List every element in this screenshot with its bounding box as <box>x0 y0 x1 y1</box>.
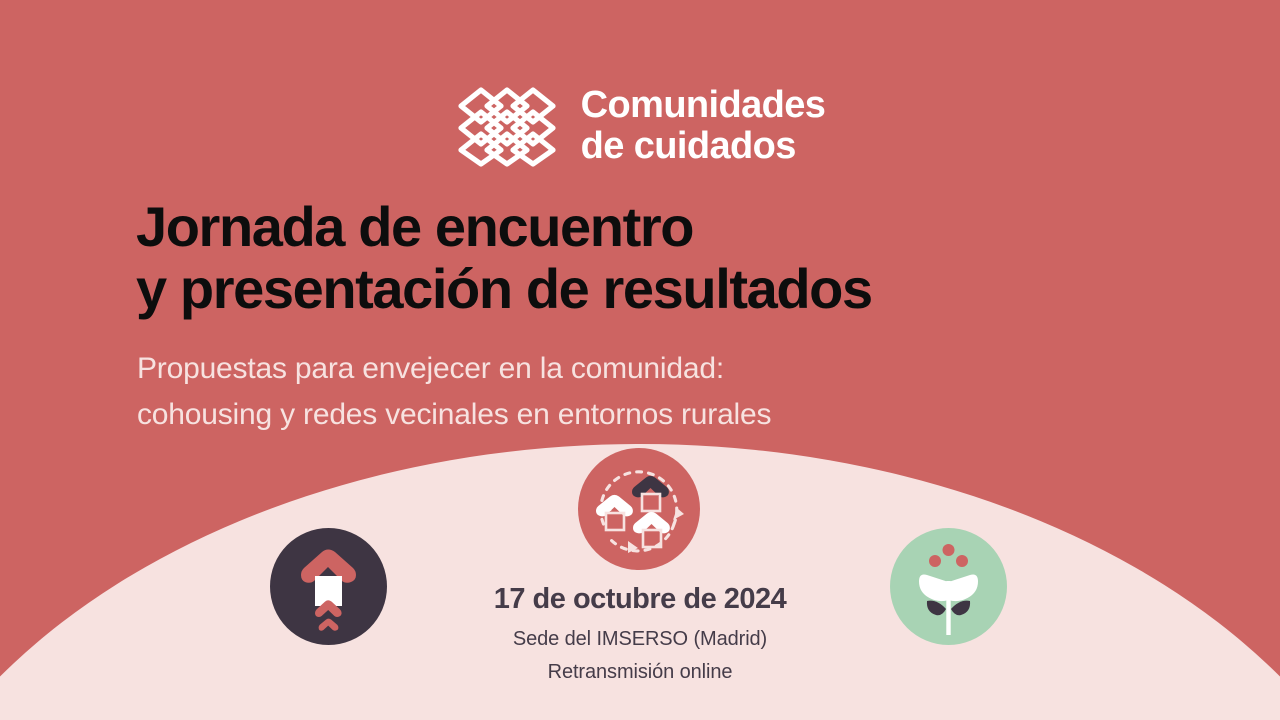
event-venue: Sede del IMSERSO (Madrid) <box>0 627 1280 651</box>
event-streaming-note: Retransmisión online <box>0 660 1280 684</box>
three-houses-circular-arrow-icon <box>578 448 700 570</box>
page-subtitle: Propuestas para envejecer en la comunida… <box>137 346 771 437</box>
event-date: 17 de octubre de 2024 <box>0 582 1280 617</box>
brand-lockup: Comunidades de cuidados <box>0 84 1280 168</box>
page-title-line-2: y presentación de resultados <box>136 258 872 320</box>
badge-houses-network <box>578 448 700 570</box>
page-subtitle-line-2: cohousing y redes vecinales en entornos … <box>137 392 771 438</box>
page-subtitle-line-1: Propuestas para envejecer en la comunida… <box>137 346 771 392</box>
event-poster: Comunidades de cuidados Jornada de encue… <box>0 0 1280 720</box>
page-title-line-1: Jornada de encuentro <box>136 196 872 258</box>
stacked-chevrons-logo-icon <box>455 84 559 168</box>
page-title: Jornada de encuentro y presentación de r… <box>136 196 872 319</box>
brand-name-line-2: de cuidados <box>581 126 826 167</box>
brand-wordmark: Comunidades de cuidados <box>581 85 826 166</box>
event-details: 17 de octubre de 2024 Sede del IMSERSO (… <box>0 582 1280 684</box>
brand-name-line-1: Comunidades <box>581 85 826 126</box>
